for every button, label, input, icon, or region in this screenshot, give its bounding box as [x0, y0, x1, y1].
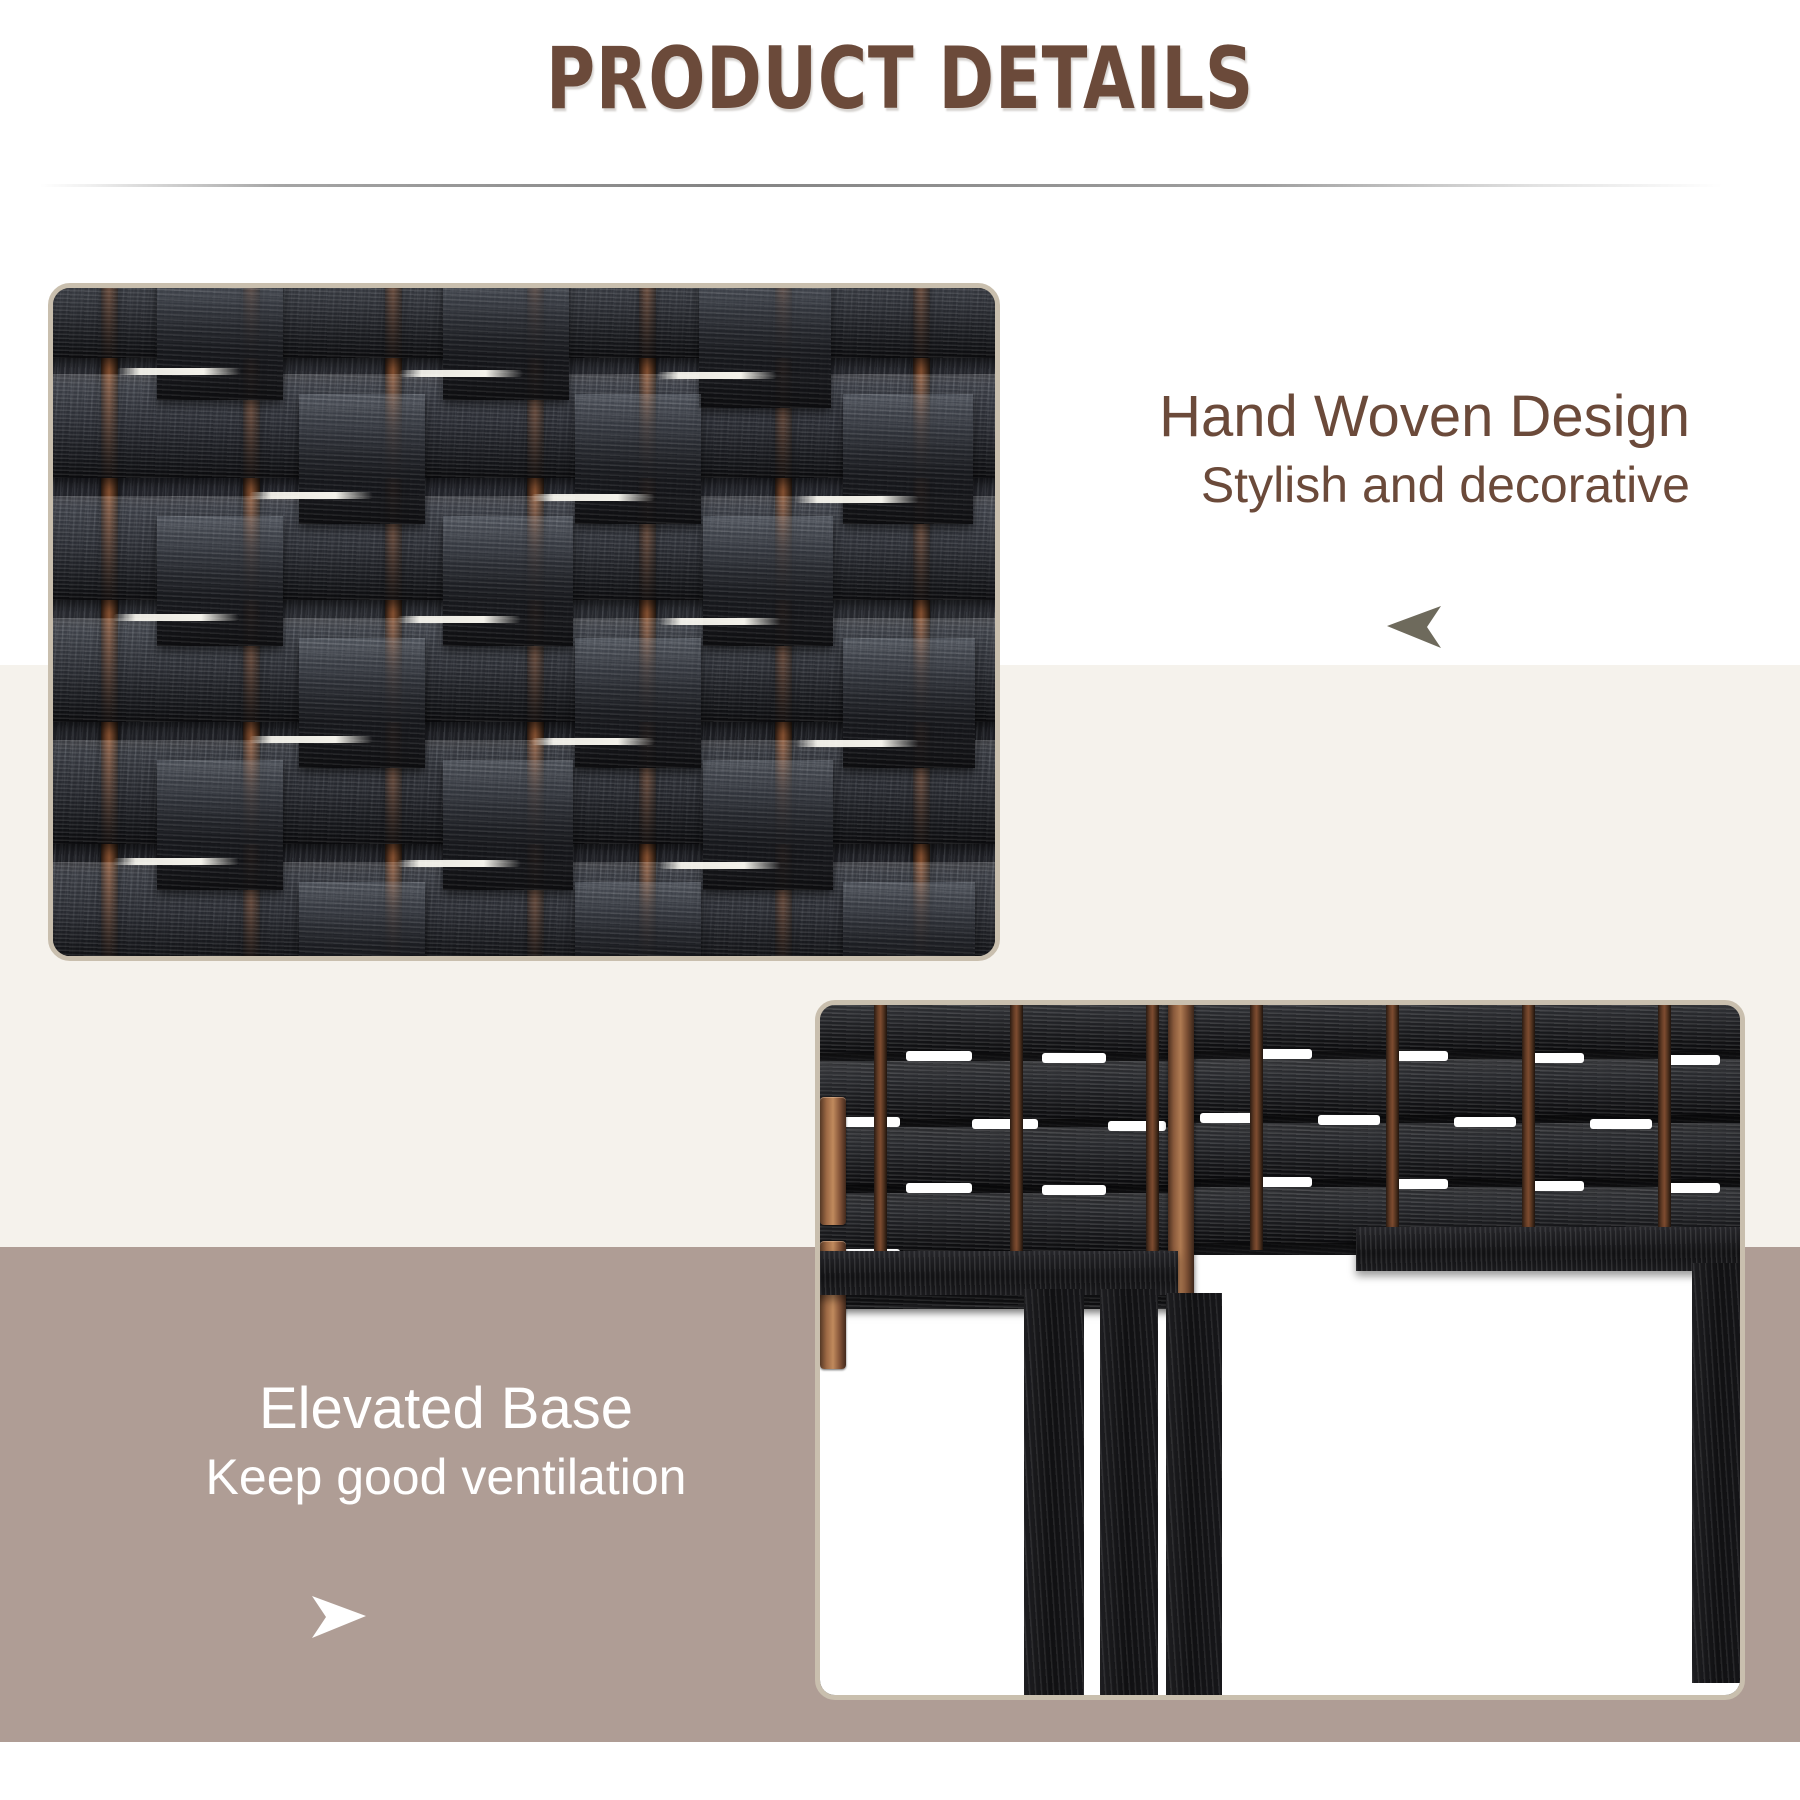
woven-block [299, 638, 425, 768]
woven-block [157, 516, 283, 646]
weave-gap [117, 368, 241, 375]
woven-block [575, 882, 701, 956]
woven-block [575, 638, 701, 768]
weave-gap [397, 860, 521, 867]
leg-center-right [1166, 1293, 1222, 1695]
woven-block [703, 516, 833, 646]
product-details-infographic: PRODUCT DETAILS [0, 0, 1800, 1800]
leg-left [1024, 1289, 1084, 1695]
panel-gap [1454, 1117, 1516, 1127]
feature-image-hand-woven-design [48, 283, 1000, 961]
weave-gap [399, 370, 523, 377]
woven-block [443, 516, 573, 646]
woven-block [443, 760, 573, 890]
woven-block [443, 288, 569, 400]
weave-gap [795, 496, 919, 503]
hinge-barrel [820, 1097, 846, 1225]
panel-gap [972, 1119, 1038, 1129]
feature-subtitle: Stylish and decorative [930, 456, 1690, 515]
folding-screen-scene [820, 1005, 1740, 1695]
weave-gap [659, 862, 781, 869]
panel-gap [1042, 1185, 1106, 1195]
woven-block [157, 760, 283, 890]
title-divider [40, 184, 1740, 187]
panel-gap [1590, 1119, 1652, 1129]
weave-gap [659, 618, 781, 625]
woven-block [843, 638, 975, 768]
panel-dowel [1658, 1005, 1671, 1250]
feature-subtitle: Keep good ventilation [96, 1448, 796, 1507]
panel-gap [906, 1183, 972, 1193]
weave-gap [113, 614, 239, 621]
feature-text-elevated-base: Elevated Base Keep good ventilation [96, 1377, 796, 1507]
panel-gap [906, 1051, 972, 1061]
weave-gap [795, 740, 919, 747]
woven-block [843, 882, 975, 956]
weave-gap [113, 858, 239, 865]
feature-title: Hand Woven Design [930, 385, 1690, 450]
weave-gap [249, 492, 373, 499]
panel-dowel [1386, 1005, 1399, 1250]
bottom-rail-right [1356, 1227, 1740, 1271]
woven-block [699, 288, 831, 408]
weave-gap [531, 738, 655, 745]
panel-dowel [1522, 1005, 1535, 1250]
panel-dowel [1250, 1005, 1263, 1250]
photo-1-inner [53, 288, 995, 956]
weave-gap [249, 736, 373, 743]
feature-text-hand-woven-design: Hand Woven Design Stylish and decorative [930, 385, 1690, 515]
woven-block [299, 394, 425, 524]
arrow-right-icon [308, 1594, 370, 1640]
page-title: PRODUCT DETAILS [198, 34, 1602, 124]
panel-gap [1318, 1115, 1380, 1125]
weave-gap [657, 372, 777, 379]
feature-image-elevated-base [815, 1000, 1745, 1700]
leg-right [1692, 1263, 1740, 1683]
panel-gap [1042, 1053, 1106, 1063]
weave-gap [397, 616, 521, 623]
weave-gap [531, 494, 655, 501]
woven-block [703, 760, 833, 890]
woven-block [575, 394, 701, 524]
photo-2-inner [820, 1005, 1740, 1695]
feature-title: Elevated Base [96, 1377, 796, 1442]
leg-center-left [1100, 1289, 1158, 1695]
woven-block [299, 882, 425, 956]
woven-block [157, 288, 283, 400]
